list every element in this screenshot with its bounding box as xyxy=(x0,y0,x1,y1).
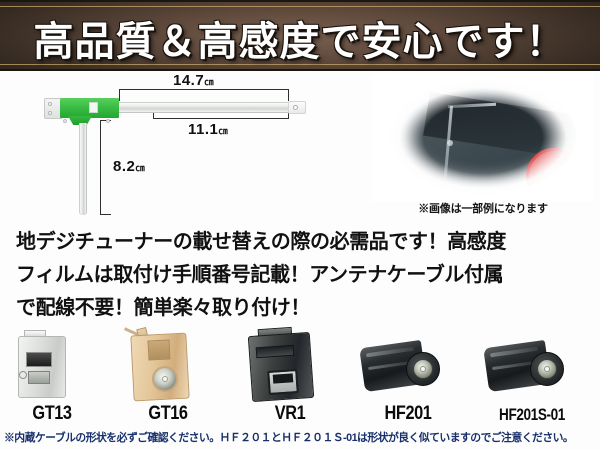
connector-item-hf201: HF201 xyxy=(358,330,458,425)
photo-oval-frame: 9 10 xyxy=(390,78,576,194)
description-line-1: 地デジチューナーの載せ替えの際の必需品です！高感度 xyxy=(16,226,584,259)
connector-item-gt13: GT13 xyxy=(2,330,102,425)
connector-image-gt16 xyxy=(118,330,218,402)
film-horizontal-strip xyxy=(118,102,288,113)
film-dot-icon xyxy=(63,119,67,123)
connector-image-vr1 xyxy=(240,330,340,402)
product-description: 地デジチューナーの載せ替えの際の必需品です！高感度 フィルムは取付け手順番号記載… xyxy=(0,222,600,328)
gt13-housing xyxy=(18,336,66,398)
connector-image-hf201s01 xyxy=(482,330,582,402)
gt13-contact xyxy=(28,371,50,384)
gt16-center-pin xyxy=(162,376,168,382)
gt13-window xyxy=(26,352,52,367)
dimension-strip-width-value: 11.1 xyxy=(188,121,218,138)
connector-item-hf201s01: HF201S-01 xyxy=(482,330,582,425)
connector-image-hf201 xyxy=(358,330,458,402)
film-strip-eyelet-icon xyxy=(293,105,298,110)
gt16-slot xyxy=(147,339,170,360)
connector-label-hf201: HF201 xyxy=(365,403,451,425)
banner-title: 高品質＆高感度で安心です！ xyxy=(0,2,600,71)
film-plate-hole-icon xyxy=(48,102,52,106)
gt13-ring-icon xyxy=(19,371,27,379)
vr1-slot xyxy=(273,373,294,383)
connector-image-gt13 xyxy=(2,330,102,402)
dimension-total-width-value: 14.7 xyxy=(173,72,204,89)
photo-disclaimer-note: ※画像は一部例になります xyxy=(372,200,594,216)
film-vertical-strip xyxy=(79,123,87,215)
sticker-number-10: 10 xyxy=(553,161,572,180)
inspection-sticker: 9 10 xyxy=(526,148,576,194)
connector-label-gt13: GT13 xyxy=(9,403,95,425)
connector-label-gt16: GT16 xyxy=(125,403,211,425)
footer-disclaimer-text: ※内蔵ケーブルの形状を必ずご確認ください。ＨＦ２０１とＨＦ２０１Ｓ-01は形状が… xyxy=(4,429,589,445)
dimension-drop-height-value: 8.2 xyxy=(113,158,135,175)
footer-disclaimer: ※内蔵ケーブルの形状を必ずご確認ください。ＨＦ２０１とＨＦ２０１Ｓ-01は形状が… xyxy=(0,428,600,450)
sticker-number-9: 9 xyxy=(534,180,549,194)
connector-label-vr1: VR1 xyxy=(247,403,333,425)
installed-antenna-node xyxy=(447,140,453,146)
description-line-2: フィルムは取付け手順番号記載！アンテナケーブル付属 xyxy=(16,259,584,292)
hf201-center-pin xyxy=(420,366,426,372)
dimension-total-width-unit: ㎝ xyxy=(204,77,213,87)
connector-label-hf201s01: HF201S-01 xyxy=(492,405,572,425)
hf201s01-center-pin xyxy=(544,366,550,372)
dimension-strip-width-unit: ㎝ xyxy=(218,126,227,136)
film-plate-hole-icon xyxy=(48,111,52,115)
product-info-image: 高品質＆高感度で安心です！ 14.7㎝ 11.1㎝ xyxy=(0,0,600,450)
dimension-drop-height-unit: ㎝ xyxy=(135,163,144,173)
connector-type-gallery: GT13 GT16 VR1 xyxy=(0,330,600,425)
header-banner: 高品質＆高感度で安心です！ xyxy=(0,0,600,71)
description-line-3: で配線不要！簡単楽々取り付け！ xyxy=(16,292,584,325)
film-dot-icon xyxy=(106,119,110,123)
connector-item-gt16: GT16 xyxy=(118,330,218,425)
windshield-install-photo: 9 10 ※画像は一部例になります xyxy=(372,74,594,202)
connector-item-vr1: VR1 xyxy=(240,330,340,425)
antenna-film-dimension-diagram: 14.7㎝ 11.1㎝ 8.2㎝ xyxy=(0,71,360,219)
film-number-marker xyxy=(89,102,98,113)
